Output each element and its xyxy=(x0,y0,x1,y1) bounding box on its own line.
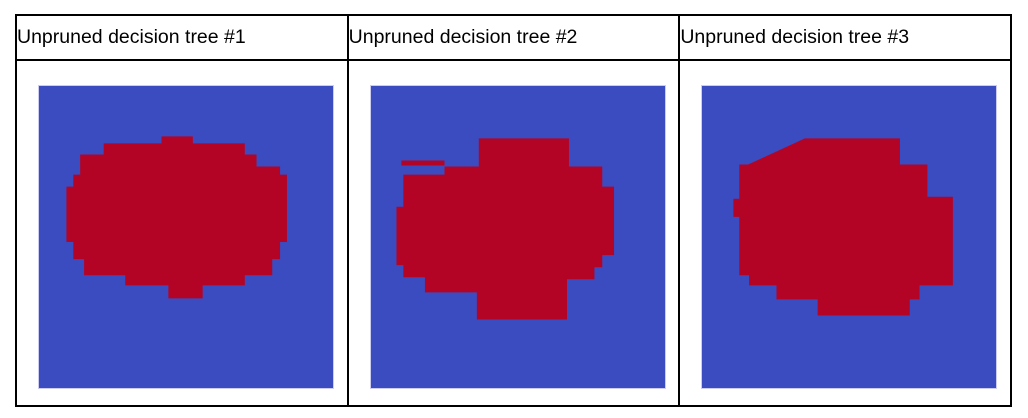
table-header-row: Unpruned decision tree #1 Unpruned decis… xyxy=(16,15,1011,60)
decision-boundary-svg-1 xyxy=(39,86,333,388)
decision-boundary-svg-2 xyxy=(371,86,665,388)
header-cell-tree-3: Unpruned decision tree #3 xyxy=(679,15,1011,60)
class-1-decision-region-1 xyxy=(66,136,287,298)
decision-tree-comparison-table: Unpruned decision tree #1 Unpruned decis… xyxy=(15,14,1012,407)
header-cell-tree-2: Unpruned decision tree #2 xyxy=(348,15,680,60)
overfit-sliver-blue-band-2 xyxy=(403,166,444,171)
header-cell-tree-1: Unpruned decision tree #1 xyxy=(16,15,348,60)
page-root: Unpruned decision tree #1 Unpruned decis… xyxy=(0,0,1028,418)
plot-cell-tree-1 xyxy=(16,60,348,406)
decision-boundary-svg-3 xyxy=(702,86,996,388)
table-header-row-group: Unpruned decision tree #1 Unpruned decis… xyxy=(16,15,1011,60)
decision-boundary-plot-2 xyxy=(370,85,666,389)
plot-cell-tree-3 xyxy=(679,60,1011,406)
overfit-sliver-red-band-2 xyxy=(401,160,444,165)
table-plot-row xyxy=(16,60,1011,406)
decision-boundary-plot-3 xyxy=(701,85,997,389)
decision-boundary-plot-1 xyxy=(38,85,334,389)
table-body-row-group xyxy=(16,60,1011,406)
plot-cell-tree-2 xyxy=(348,60,680,406)
